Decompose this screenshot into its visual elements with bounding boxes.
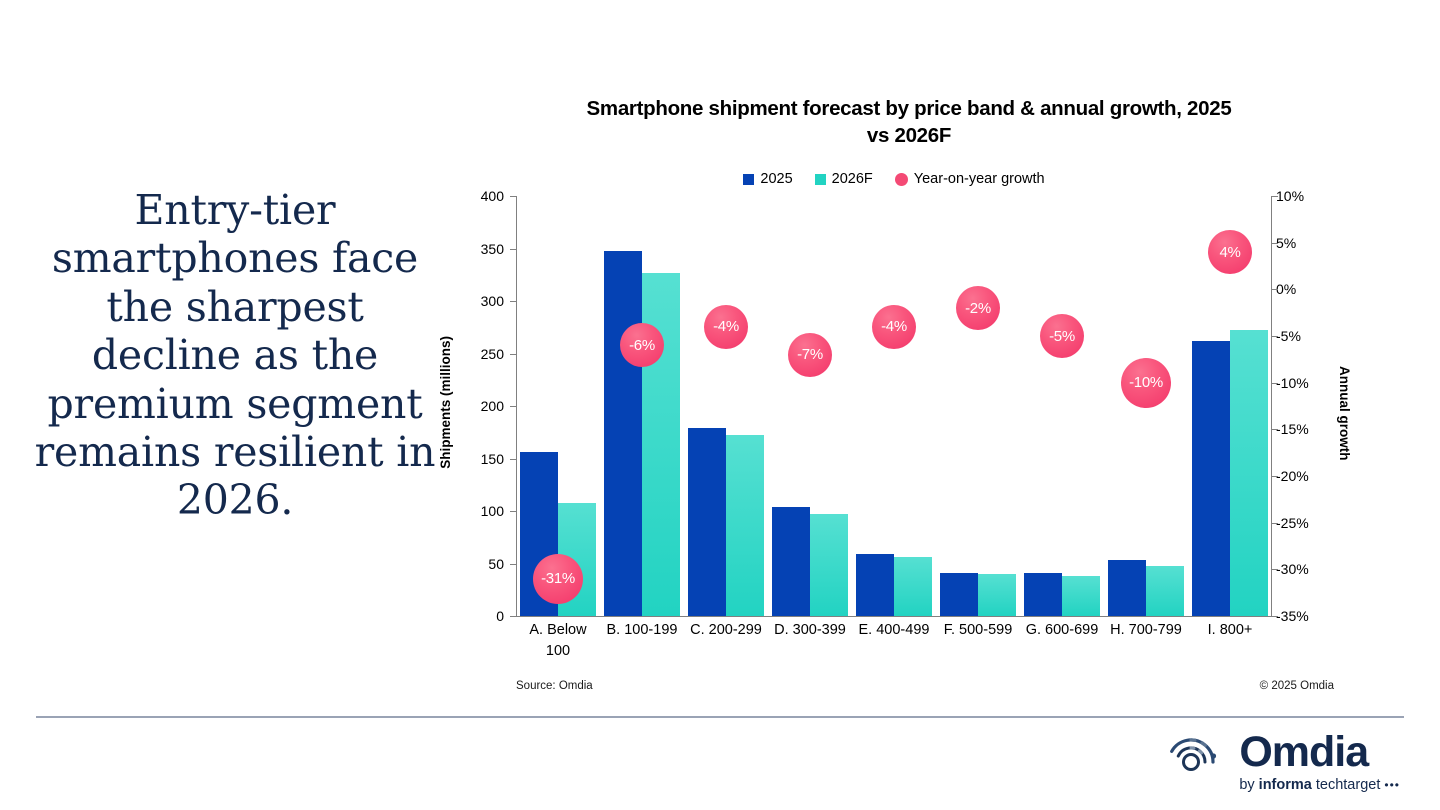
x-axis-label: C. 200-299 (684, 620, 768, 662)
legend-item-2026f[interactable]: 2026F (815, 171, 873, 187)
plot-area: -31%-6%-4%-7%-4%-2%-5%-10%4% (516, 196, 1272, 616)
y-tick-right: -15% (1276, 421, 1309, 437)
legend-swatch-circle-icon (895, 173, 908, 186)
source-note: Source: Omdia (516, 680, 593, 692)
growth-bubble-label: -5% (1049, 328, 1075, 345)
omdia-logo-text: Omdia by informa techtarget ••• (1239, 731, 1400, 793)
y-tick-left: 250 (481, 346, 504, 362)
growth-bubble-label: 4% (1219, 244, 1240, 261)
y-axis-left-title: Shipments (millions) (438, 336, 458, 469)
y-tick-left: 400 (481, 188, 504, 204)
legend-item-2025[interactable]: 2025 (743, 171, 792, 187)
growth-bubble[interactable]: 4% (1208, 230, 1252, 274)
y-tickmark-right (1272, 336, 1278, 337)
growth-bubble[interactable]: -7% (788, 333, 832, 377)
x-axis-label: B. 100-199 (600, 620, 684, 662)
y-tickmark-left (510, 406, 516, 407)
y-tick-left: 350 (481, 241, 504, 257)
slide-root: Entry-tier smartphones face the sharpest… (0, 0, 1440, 810)
chart-panel: Smartphone shipment forecast by price ba… (444, 88, 1344, 698)
tagline-techtarget: techtarget (1312, 777, 1381, 793)
legend-swatch-square-icon (743, 174, 754, 185)
y-tickmark-right (1272, 569, 1278, 570)
legend-label: Year-on-year growth (914, 171, 1045, 187)
x-axis-labels: A. Below 100B. 100-199C. 200-299D. 300-3… (516, 620, 1272, 662)
chart-title: Smartphone shipment forecast by price ba… (584, 96, 1234, 149)
growth-bubble-label: -10% (1129, 374, 1163, 391)
growth-bubble-label: -7% (797, 346, 823, 363)
legend-label: 2025 (760, 171, 792, 187)
x-axis-label: A. Below 100 (516, 620, 600, 662)
y-tickmark-right (1272, 243, 1278, 244)
growth-bubbles-layer: -31%-6%-4%-7%-4%-2%-5%-10%4% (516, 196, 1272, 616)
tagline-informa: informa (1259, 777, 1312, 793)
y-tickmark-right (1272, 289, 1278, 290)
x-axis-label: E. 400-499 (852, 620, 936, 662)
copyright-note: © 2025 Omdia (1260, 680, 1334, 692)
plot-wrapper: Shipments (millions) Annual growth 05010… (444, 196, 1344, 616)
y-tick-right: 0% (1276, 281, 1296, 297)
y-tick-right: -35% (1276, 608, 1309, 624)
y-tickmark-left (510, 249, 516, 250)
y-tickmark-left (510, 354, 516, 355)
x-axis-label: D. 300-399 (768, 620, 852, 662)
x-axis-label: G. 600-699 (1020, 620, 1104, 662)
y-tickmark-left (510, 511, 516, 512)
omdia-logo: Omdia by informa techtarget ••• (1157, 728, 1400, 796)
y-tick-left: 0 (496, 608, 504, 624)
growth-bubble[interactable]: -4% (872, 305, 916, 349)
omdia-spiral-icon (1157, 728, 1225, 796)
headline-text: Entry-tier smartphones face the sharpest… (28, 186, 442, 525)
legend-item-year-on-year-growth[interactable]: Year-on-year growth (895, 171, 1045, 187)
y-tickmark-left (510, 616, 516, 617)
growth-bubble-label: -4% (881, 318, 907, 335)
growth-bubble-label: -31% (541, 570, 575, 587)
growth-bubble-label: -2% (965, 300, 991, 317)
y-tick-right: -30% (1276, 561, 1309, 577)
growth-bubble-label: -4% (713, 318, 739, 335)
y-tick-right: -20% (1276, 468, 1309, 484)
y-tickmark-left (510, 459, 516, 460)
y-tickmark-right (1272, 429, 1278, 430)
y-tickmark-right (1272, 523, 1278, 524)
y-tickmark-right (1272, 383, 1278, 384)
x-axis-label: F. 500-599 (936, 620, 1020, 662)
growth-bubble[interactable]: -2% (956, 286, 1000, 330)
y-tick-left: 300 (481, 293, 504, 309)
growth-bubble-label: -6% (629, 337, 655, 354)
legend-label: 2026F (832, 171, 873, 187)
y-tick-right: -10% (1276, 375, 1309, 391)
y-tick-right: -25% (1276, 515, 1309, 531)
growth-bubble[interactable]: -5% (1040, 314, 1084, 358)
tagline-by: by (1239, 777, 1258, 793)
growth-bubble[interactable]: -6% (620, 323, 664, 367)
y-tickmark-right (1272, 616, 1278, 617)
omdia-tagline: by informa techtarget ••• (1239, 778, 1400, 793)
tagline-dots: ••• (1384, 778, 1400, 792)
growth-bubble[interactable]: -4% (704, 305, 748, 349)
y-axis-right-title: Annual growth (1337, 366, 1352, 461)
y-tickmark-left (510, 301, 516, 302)
y-tick-left: 100 (481, 503, 504, 519)
chart-footer: Source: Omdia © 2025 Omdia (516, 680, 1334, 692)
y-tickmark-right (1272, 196, 1278, 197)
y-tick-right: 5% (1276, 235, 1296, 251)
y-tickmark-left (510, 564, 516, 565)
growth-bubble[interactable]: -10% (1121, 358, 1171, 408)
y-tick-right: 10% (1276, 188, 1304, 204)
y-tick-left: 50 (488, 556, 504, 572)
growth-bubble[interactable]: -31% (533, 554, 583, 604)
legend-swatch-square-icon (815, 174, 826, 185)
footer-divider (36, 716, 1404, 718)
omdia-wordmark: Omdia (1239, 731, 1400, 774)
y-axis-right-ticks: -35%-30%-25%-20%-15%-10%-5%0%5%10% (1268, 196, 1316, 616)
x-axis-label: I. 800+ (1188, 620, 1272, 662)
y-tick-left: 200 (481, 398, 504, 414)
y-tick-left: 150 (481, 451, 504, 467)
y-tickmark-left (510, 196, 516, 197)
y-tick-right: -5% (1276, 328, 1301, 344)
y-axis-left-ticks: 050100150200250300350400 (466, 196, 512, 616)
y-tickmark-right (1272, 476, 1278, 477)
x-axis-label: H. 700-799 (1104, 620, 1188, 662)
chart-legend: 20252026FYear-on-year growth (444, 171, 1344, 187)
